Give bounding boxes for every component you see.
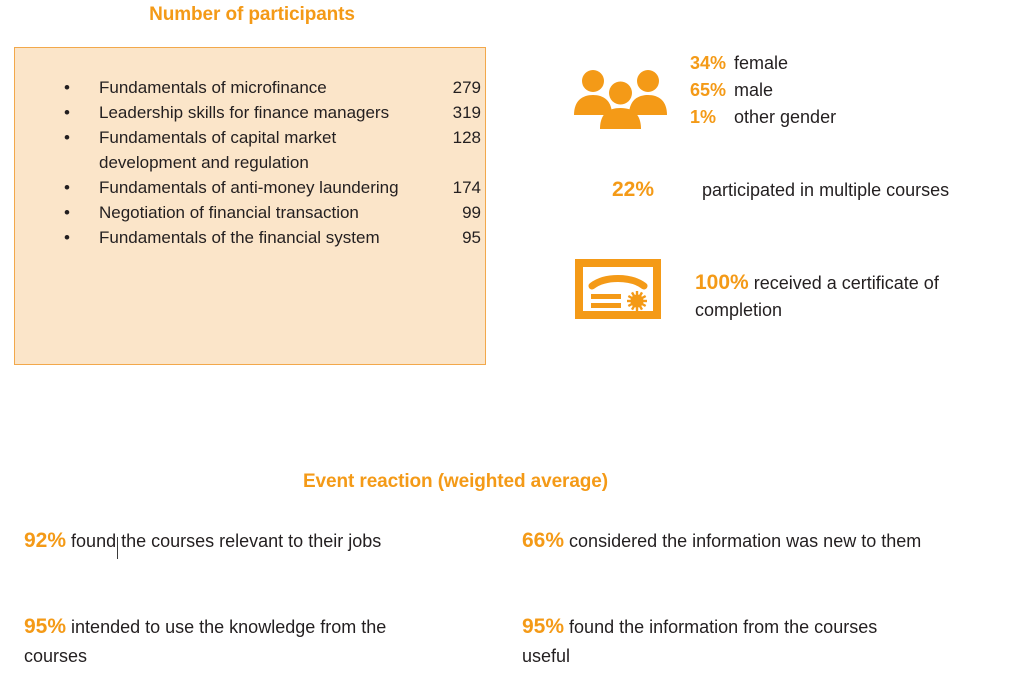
course-count: 174	[435, 175, 481, 200]
participants-title: Number of participants	[14, 4, 490, 26]
list-item: • Fundamentals of anti-money laundering …	[61, 175, 481, 200]
list-item: • Negotiation of financial transaction 9…	[61, 200, 481, 225]
text-cursor-caret	[117, 537, 118, 559]
course-count: 279	[435, 75, 481, 100]
reaction-label: considered the information was new to th…	[569, 531, 921, 551]
reaction-stat: 92% found the courses relevant to their …	[24, 526, 424, 556]
gender-label: other gender	[734, 104, 836, 131]
reaction-stat: 95% intended to use the knowledge from t…	[24, 612, 424, 671]
bullet-icon: •	[61, 100, 99, 125]
participants-box: • Fundamentals of microfinance 279 • Lea…	[14, 47, 486, 365]
list-item: • Fundamentals of the financial system 9…	[61, 225, 481, 250]
reaction-label: intended to use the knowledge from the c…	[24, 617, 386, 666]
course-list: • Fundamentals of microfinance 279 • Lea…	[61, 75, 481, 250]
bullet-icon: •	[61, 75, 99, 100]
course-count: 319	[435, 100, 481, 125]
reaction-stat: 95% found the information from the cours…	[522, 612, 922, 671]
course-name: Fundamentals of microfinance	[99, 75, 435, 100]
gender-stats: 34% female 65% male 1% other gender	[690, 50, 836, 131]
gender-row: 34% female	[690, 50, 836, 77]
course-name: Fundamentals of anti-money laundering	[99, 175, 435, 200]
list-item: • Fundamentals of capital market develop…	[61, 125, 481, 175]
gender-percent: 1%	[690, 104, 734, 131]
course-count: 95	[435, 225, 481, 250]
multiple-courses-stat: 22% participated in multiple courses	[612, 178, 949, 202]
reaction-label: found the information from the courses u…	[522, 617, 877, 666]
course-name: Leadership skills for finance managers	[99, 100, 435, 125]
people-group-icon	[573, 68, 668, 130]
gender-label: female	[734, 50, 788, 77]
course-name: Fundamentals of capital market developme…	[99, 125, 435, 175]
event-reaction-title: Event reaction (weighted average)	[0, 471, 911, 493]
bullet-icon: •	[61, 200, 99, 225]
bullet-icon: •	[61, 175, 99, 200]
multiple-courses-percent: 22%	[612, 178, 702, 202]
course-count: 99	[435, 200, 481, 225]
gender-row: 1% other gender	[690, 104, 836, 131]
multiple-courses-label: participated in multiple courses	[702, 180, 949, 201]
certificate-stat: 100% received a certificate of completio…	[695, 269, 1015, 324]
gender-label: male	[734, 77, 773, 104]
bullet-icon: •	[61, 125, 99, 150]
reaction-stat: 66% considered the information was new t…	[522, 526, 922, 556]
reaction-percent: 95%	[522, 615, 564, 638]
reaction-percent: 66%	[522, 529, 564, 552]
bullet-icon: •	[61, 225, 99, 250]
list-item: • Leadership skills for finance managers…	[61, 100, 481, 125]
reaction-percent: 95%	[24, 615, 66, 638]
course-name: Fundamentals of the financial system	[99, 225, 435, 250]
list-item: • Fundamentals of microfinance 279	[61, 75, 481, 100]
certificate-icon	[575, 259, 661, 319]
course-count: 128	[435, 125, 481, 150]
gender-percent: 65%	[690, 77, 734, 104]
gender-percent: 34%	[690, 50, 734, 77]
gender-row: 65% male	[690, 77, 836, 104]
certificate-percent: 100%	[695, 271, 749, 294]
reaction-percent: 92%	[24, 529, 66, 552]
course-name: Negotiation of financial transaction	[99, 200, 435, 225]
